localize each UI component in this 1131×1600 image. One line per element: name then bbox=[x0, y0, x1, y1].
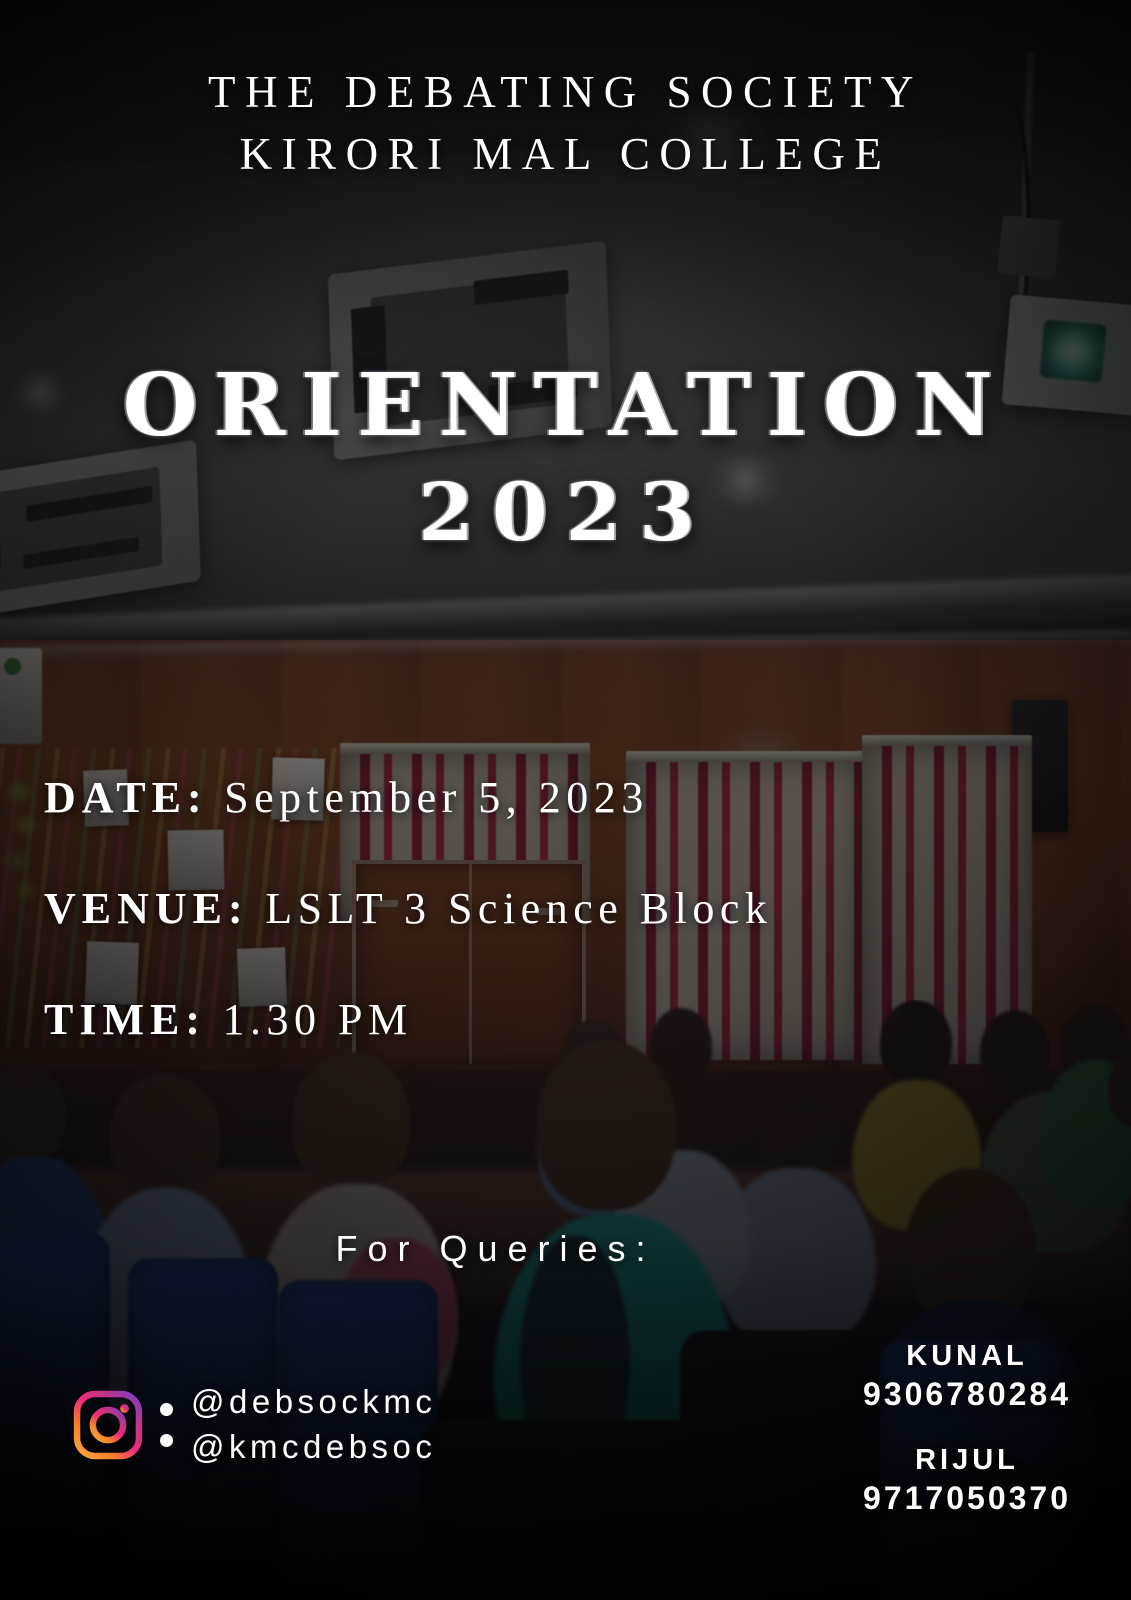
handle-bullets bbox=[160, 1403, 173, 1447]
contact-name: KUNAL bbox=[863, 1338, 1071, 1374]
event-poster: THE DEBATING SOCIETY KIRORI MAL COLLEGE … bbox=[0, 0, 1131, 1600]
event-year: 2023 bbox=[0, 462, 1131, 562]
event-details: DATE: September 5, 2023 VENUE: LSLT 3 Sc… bbox=[44, 776, 772, 1042]
date-value: September 5, 2023 bbox=[224, 773, 649, 822]
contact-item: KUNAL 9306780284 bbox=[863, 1338, 1071, 1416]
contact-list: KUNAL 9306780284 RIJUL 9717050370 bbox=[863, 1338, 1071, 1520]
venue-label: VENUE: bbox=[44, 884, 249, 933]
detail-row-venue: VENUE: LSLT 3 Science Block bbox=[44, 887, 772, 931]
college-name-line: KIRORI MAL COLLEGE bbox=[0, 124, 1131, 186]
social-media-block[interactable]: @debsockmc @kmcdebsoc bbox=[72, 1380, 436, 1469]
detail-row-time: TIME: 1.30 PM bbox=[44, 998, 772, 1042]
organization-header: THE DEBATING SOCIETY KIRORI MAL COLLEGE bbox=[0, 62, 1131, 185]
instagram-icon[interactable] bbox=[72, 1389, 144, 1461]
instagram-handle-1[interactable]: @debsockmc bbox=[191, 1380, 436, 1425]
detail-row-date: DATE: September 5, 2023 bbox=[44, 776, 772, 820]
contact-phone[interactable]: 9717050370 bbox=[863, 1478, 1071, 1520]
instagram-handle-2[interactable]: @kmcdebsoc bbox=[191, 1425, 436, 1470]
queries-heading: For Queries: bbox=[0, 1228, 1131, 1270]
bullet-dot bbox=[160, 1434, 173, 1447]
time-value: 1.30 PM bbox=[223, 995, 413, 1044]
event-title: ORIENTATION bbox=[123, 355, 1009, 456]
instagram-handles[interactable]: @debsockmc @kmcdebsoc bbox=[191, 1380, 436, 1469]
date-label: DATE: bbox=[44, 773, 208, 822]
time-label: TIME: bbox=[44, 995, 206, 1044]
venue-value: LSLT 3 Science Block bbox=[265, 884, 772, 933]
contact-name: RIJUL bbox=[863, 1442, 1071, 1478]
contact-item: RIJUL 9717050370 bbox=[863, 1442, 1071, 1520]
society-name-line: THE DEBATING SOCIETY bbox=[0, 62, 1131, 124]
page-title: ORIENTATION 2023 bbox=[0, 352, 1131, 562]
contact-phone[interactable]: 9306780284 bbox=[863, 1374, 1071, 1416]
bullet-dot bbox=[160, 1403, 173, 1416]
